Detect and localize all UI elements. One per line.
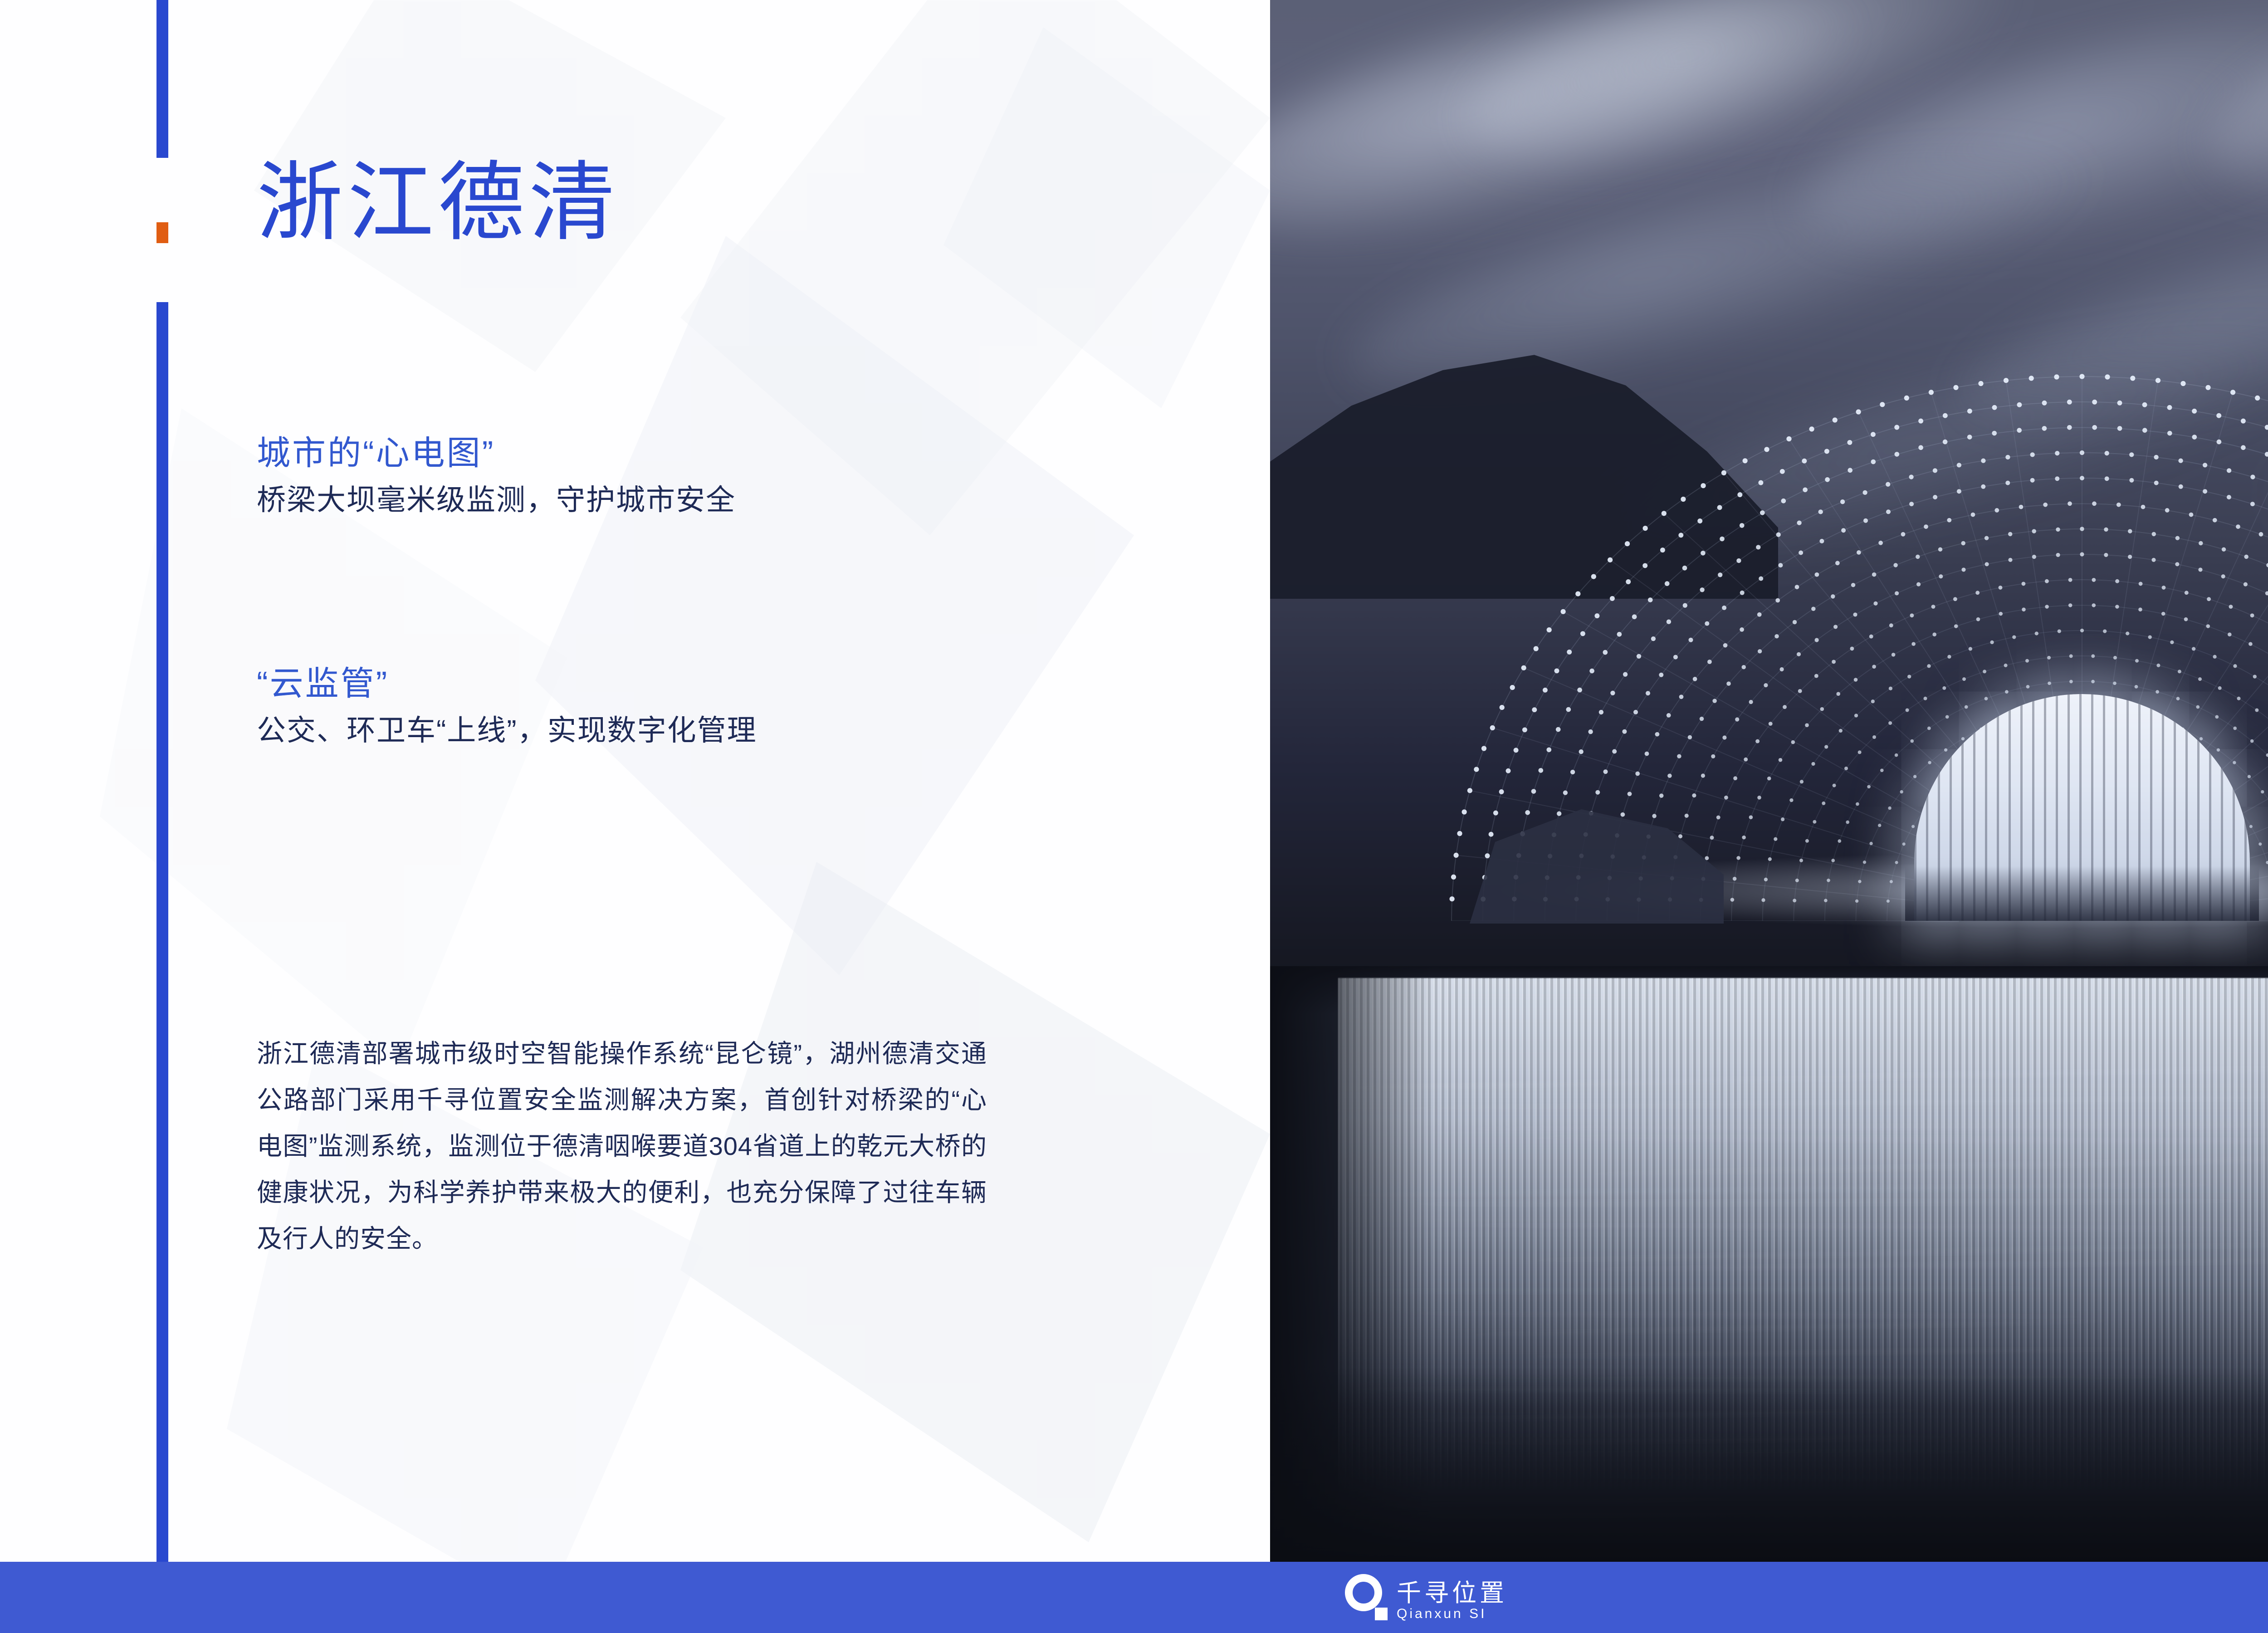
archway-ground-shadow bbox=[1905, 866, 2259, 921]
section-block-2: “云监管” 公交、环卫车“上线”，实现数字化管理 bbox=[257, 667, 757, 745]
section-2-heading: “云监管” bbox=[257, 667, 757, 700]
description-paragraph: 浙江德清部署城市级时空智能操作系统“昆仑镜”，湖州德清交通公路部门采用千寻位置安… bbox=[257, 1031, 987, 1262]
photo-vignette-bottom bbox=[1270, 1367, 2268, 1562]
logo-text-en: Qianxun SI bbox=[1397, 1606, 1507, 1621]
background-facet-texture bbox=[0, 0, 1270, 1633]
footer-bar: 千寻位置 Qianxun SI 第35页 bbox=[0, 1562, 2268, 1633]
section-1-heading: 城市的“心电图” bbox=[257, 436, 736, 470]
brand-logo: 千寻位置 Qianxun SI bbox=[1345, 1574, 1507, 1621]
left-accent-marker-orange bbox=[156, 222, 168, 243]
slide-root: 浙江德清 城市的“心电图” 桥梁大坝毫米级监测，守护城市安全 “云监管” 公交、… bbox=[0, 0, 2268, 1633]
qianxun-q-icon bbox=[1345, 1574, 1388, 1621]
left-accent-rule-top bbox=[156, 0, 168, 158]
left-content-panel bbox=[0, 0, 1270, 1633]
section-1-body: 桥梁大坝毫米级监测，守护城市安全 bbox=[257, 485, 736, 514]
page-title: 浙江德清 bbox=[257, 160, 620, 246]
logo-text-cn: 千寻位置 bbox=[1397, 1580, 1507, 1606]
section-2-body: 公交、环卫车“上线”，实现数字化管理 bbox=[257, 716, 757, 745]
illuminated-dome-structure bbox=[1442, 363, 2268, 921]
section-block-1: 城市的“心电图” 桥梁大坝毫米级监测，守护城市安全 bbox=[257, 436, 736, 514]
hero-photo: 时空智能 ✕ 未来之城 bbox=[1270, 0, 2268, 1562]
left-accent-rule-bottom bbox=[156, 302, 168, 1633]
